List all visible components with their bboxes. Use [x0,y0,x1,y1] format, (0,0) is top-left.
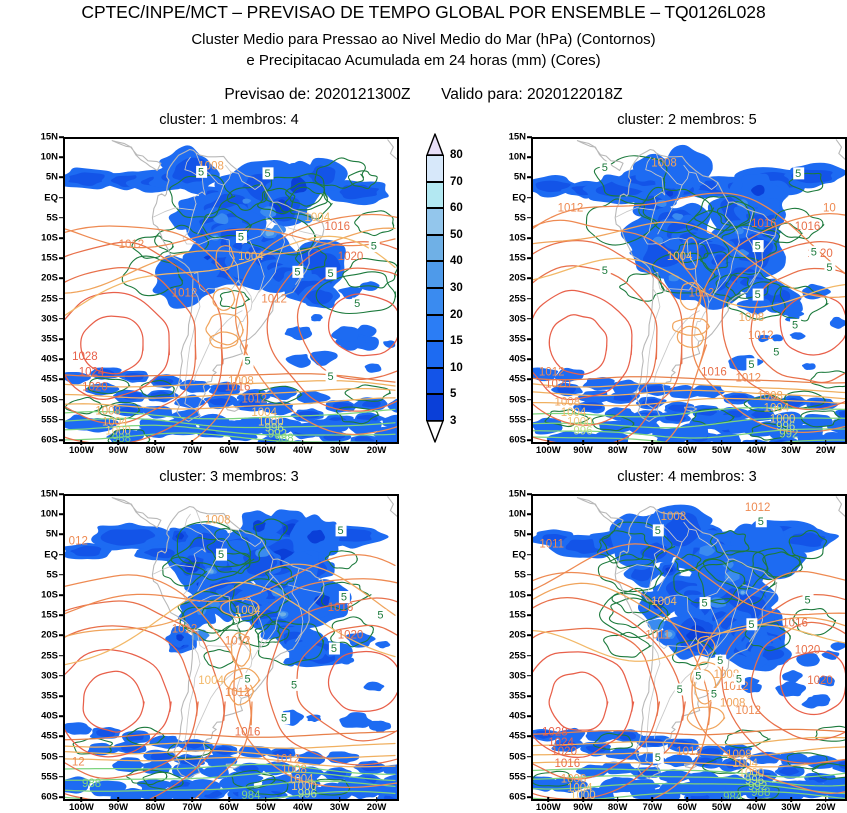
svg-text:1016: 1016 [328,602,354,614]
map-panel-cluster-2[interactable]: 1008101210041012101016102010161008101210… [531,137,847,444]
lat-tick-label: 50S [26,394,58,405]
lon-tick-label: 90W [109,445,129,456]
lat-tick-mark [59,379,64,381]
svg-text:5: 5 [371,241,377,253]
lon-tick-mark [81,797,83,802]
svg-text:1012: 1012 [745,502,771,514]
lat-tick-mark [59,399,64,401]
panel-title-cluster-3: cluster: 3 membros: 3 [63,469,395,485]
lat-tick-mark [527,796,532,798]
lat-tick-mark [527,439,532,441]
svg-text:5: 5 [804,595,810,607]
lat-tick-label: 5N [26,529,58,540]
lat-tick-mark [527,177,532,179]
svg-text:5: 5 [811,247,817,259]
svg-text:1008: 1008 [228,375,254,387]
colorbar-extend-high-arrow [426,133,444,156]
lat-tick-label: 45S [26,731,58,742]
lat-tick-label: 15N [494,132,526,143]
lat-tick-mark [527,695,532,697]
lon-tick-label: 100W [69,802,94,813]
svg-text:988: 988 [751,787,770,799]
lat-tick-mark [527,257,532,259]
valid-for-label: Valido para: 2020122018Z [441,86,623,103]
lon-tick-label: 70W [643,802,663,813]
lon-tick-label: 40W [293,802,313,813]
svg-text:10: 10 [823,203,836,215]
svg-text:1016: 1016 [701,366,727,378]
lon-tick-mark [825,440,827,445]
map-canvas: 1008101210041012101016102010161008101210… [533,139,845,442]
lat-tick-label: EQ [26,549,58,560]
lon-tick-mark [825,797,827,802]
svg-text:1012: 1012 [748,330,774,342]
lat-tick-label: 10N [26,509,58,520]
lat-tick-label: 55S [26,414,58,425]
lat-tick-mark [59,796,64,798]
svg-text:5: 5 [702,598,708,610]
forecast-time-line: Previsao de: 2020121300Z Valido para: 20… [0,86,847,104]
svg-text:1012: 1012 [172,623,198,635]
lat-tick-mark [59,594,64,596]
lat-tick-mark [59,554,64,556]
svg-text:988: 988 [112,433,131,442]
colorbar-band [426,368,444,395]
lat-tick-label: 5S [494,569,526,580]
svg-text:5: 5 [602,265,608,277]
svg-text:12: 12 [72,757,85,769]
colorbar-tick-label: 3 [450,415,456,427]
svg-text:5: 5 [198,166,204,178]
svg-text:1012: 1012 [539,366,565,378]
lat-tick-mark [527,379,532,381]
lon-tick-mark [302,797,304,802]
lat-tick-mark [59,298,64,300]
lon-tick-label: 50W [712,445,732,456]
lon-tick-label: 60W [219,802,239,813]
lon-tick-mark [228,797,230,802]
lat-tick-label: EQ [494,549,526,560]
lat-tick-label: 5S [26,569,58,580]
svg-text:5: 5 [331,643,337,655]
svg-text:984: 984 [723,792,743,799]
lon-tick-mark [652,440,654,445]
lat-tick-mark [527,614,532,616]
lon-tick-mark [154,440,156,445]
colorbar-band [426,341,444,368]
lon-tick-mark [376,440,378,445]
svg-text:5: 5 [245,356,251,368]
svg-text:5: 5 [294,266,300,278]
lon-tick-mark [617,797,619,802]
lat-tick-label: 10S [26,233,58,244]
lat-tick-mark [527,715,532,717]
lat-tick-mark [59,257,64,259]
svg-text:5: 5 [218,549,224,561]
lat-tick-label: 20S [26,273,58,284]
lon-tick-label: 100W [536,802,561,813]
lon-tick-label: 80W [145,445,165,456]
lat-tick-mark [527,318,532,320]
lon-tick-label: 50W [256,802,276,813]
lon-tick-mark [81,440,83,445]
svg-text:5: 5 [341,592,347,604]
lon-tick-mark [652,797,654,802]
colorbar-tick-label: 60 [450,202,463,214]
lat-tick-label: 40S [494,354,526,365]
lat-tick-label: 15S [26,253,58,264]
lat-tick-mark [527,655,532,657]
colorbar-tick-label: 20 [450,309,463,321]
svg-text:5: 5 [337,525,343,537]
svg-text:1012: 1012 [225,687,251,699]
lon-tick-label: 60W [219,445,239,456]
lat-tick-label: 25S [26,293,58,304]
map-panel-cluster-1[interactable]: 1008100410041012101210121016102010281024… [63,137,399,444]
lon-tick-mark [191,440,193,445]
lat-tick-label: 45S [494,374,526,385]
lat-tick-label: 50S [494,751,526,762]
lat-tick-label: 45S [494,731,526,742]
lat-tick-mark [59,736,64,738]
lat-tick-mark [59,217,64,219]
colorbar-tick-label: 30 [450,282,463,294]
lat-tick-mark [527,675,532,677]
lat-tick-mark [527,136,532,138]
colorbar-band [426,261,444,288]
svg-text:1008: 1008 [661,511,687,523]
lon-tick-mark [228,440,230,445]
svg-text:1012: 1012 [676,746,702,758]
svg-text:5: 5 [758,516,764,528]
lon-tick-label: 20W [367,802,387,813]
colorbar-tick-label: 70 [450,176,463,188]
lat-tick-mark [527,554,532,556]
lat-tick-mark [59,655,64,657]
colorbar-tick-label: 80 [450,149,463,161]
lat-tick-label: 10N [26,152,58,163]
page-title: CPTEC/INPE/MCT – PREVISAO DE TEMPO GLOBA… [0,2,847,23]
lon-tick-mark [302,440,304,445]
panel-title-cluster-4: cluster: 4 membros: 3 [531,469,843,485]
lon-tick-mark [686,797,688,802]
lat-tick-mark [527,419,532,421]
lat-tick-mark [527,399,532,401]
lat-tick-mark [527,635,532,637]
lat-tick-label: EQ [26,192,58,203]
lat-tick-label: 30S [26,313,58,324]
svg-text:1012: 1012 [558,203,584,215]
lat-tick-label: 10N [494,152,526,163]
svg-text:1008: 1008 [757,391,783,403]
svg-text:5: 5 [717,655,723,667]
lat-tick-label: 55S [26,771,58,782]
lat-tick-label: 5S [26,212,58,223]
lat-tick-label: 5N [494,529,526,540]
lat-tick-label: 60S [26,435,58,446]
svg-text:5: 5 [677,684,683,696]
colorbar-band [426,315,444,342]
lon-tick-label: 30W [781,802,801,813]
lon-tick-mark [790,797,792,802]
svg-text:5: 5 [264,168,270,180]
svg-text:5: 5 [773,347,779,359]
svg-text:1004: 1004 [667,251,693,263]
svg-text:992: 992 [779,428,798,440]
colorbar-tick-label: 40 [450,255,463,267]
lon-tick-label: 100W [536,445,561,456]
lat-tick-mark [59,776,64,778]
svg-text:5: 5 [354,298,360,310]
svg-text:1012: 1012 [735,705,761,717]
precipitation-colorbar: 35101520304050607080 [426,133,444,443]
lat-tick-label: 10S [494,590,526,601]
lat-tick-mark [59,197,64,199]
lat-tick-label: 15N [494,489,526,500]
svg-text:1016: 1016 [795,221,821,233]
colorbar-tick-label: 10 [450,362,463,374]
lat-tick-label: 55S [494,771,526,782]
svg-text:1028: 1028 [72,351,98,363]
lat-tick-mark [59,756,64,758]
svg-text:5: 5 [695,670,701,682]
svg-text:5: 5 [238,231,244,243]
lon-tick-mark [118,797,120,802]
svg-text:1004: 1004 [651,596,677,608]
lat-tick-label: 20S [26,630,58,641]
lon-tick-mark [339,440,341,445]
lat-tick-label: 30S [494,313,526,324]
panel-title-cluster-2: cluster: 2 membros: 5 [531,112,843,128]
svg-text:5: 5 [328,371,334,383]
lon-tick-label: 60W [677,802,697,813]
lat-tick-mark [527,156,532,158]
svg-text:1016: 1016 [555,758,581,770]
lat-tick-mark [59,715,64,717]
lat-tick-mark [527,594,532,596]
map-panel-cluster-4[interactable]: 1008101210111004101110161020100810121020… [531,494,847,801]
lat-tick-label: 5S [494,212,526,223]
lat-tick-mark [527,756,532,758]
lat-tick-mark [527,574,532,576]
lon-tick-mark [191,797,193,802]
lon-tick-label: 80W [145,802,165,813]
lon-tick-mark [582,440,584,445]
svg-text:5: 5 [755,289,761,301]
map-canvas: 1008101210111004101110161020100810121020… [533,496,845,799]
colorbar-band [426,208,444,235]
lon-tick-mark [582,797,584,802]
lat-tick-mark [527,493,532,495]
svg-text:5: 5 [245,673,251,685]
map-panel-cluster-3[interactable]: 1008012100410121016102010121004101210161… [63,494,399,801]
lon-tick-label: 90W [109,802,129,813]
lat-tick-mark [59,419,64,421]
lat-tick-label: 30S [26,670,58,681]
svg-text:1020: 1020 [551,746,577,758]
panel-title-cluster-1: cluster: 1 membros: 4 [63,112,395,128]
lon-tick-label: 70W [182,445,202,456]
svg-text:5: 5 [736,673,742,685]
lon-tick-label: 40W [747,802,767,813]
lat-tick-mark [527,338,532,340]
lat-tick-label: 10N [494,509,526,520]
lat-tick-label: 60S [494,435,526,446]
colorbar-band [426,394,444,421]
lat-tick-label: 15N [26,132,58,143]
lat-tick-label: 35S [494,691,526,702]
lat-tick-label: 15N [26,489,58,500]
lon-tick-label: 90W [573,445,593,456]
lat-tick-mark [59,136,64,138]
svg-text:5: 5 [655,525,661,537]
svg-text:5: 5 [795,168,801,180]
colorbar-tick-label: 50 [450,229,463,241]
lon-tick-mark [686,440,688,445]
lon-tick-label: 90W [573,802,593,813]
lat-tick-label: 10S [26,590,58,601]
lon-tick-label: 20W [367,445,387,456]
lon-tick-mark [790,440,792,445]
colorbar-band [426,182,444,209]
lat-tick-mark [59,156,64,158]
svg-text:1008: 1008 [739,312,765,324]
svg-text:1011: 1011 [539,539,564,551]
forecast-from-label: Previsao de: 2020121300Z [224,86,410,103]
lat-tick-mark [59,493,64,495]
lon-tick-label: 70W [182,802,202,813]
svg-text:5: 5 [755,241,761,253]
svg-text:1020: 1020 [545,378,571,390]
lat-tick-label: 60S [494,792,526,803]
svg-text:1020: 1020 [795,645,821,657]
svg-text:1012: 1012 [689,288,715,300]
lon-tick-label: 30W [781,445,801,456]
lat-tick-label: 15S [494,253,526,264]
lat-tick-mark [59,177,64,179]
svg-text:1020: 1020 [338,251,364,263]
svg-text:1016: 1016 [235,726,261,738]
lon-tick-label: 30W [330,802,350,813]
svg-text:5: 5 [711,688,717,700]
svg-text:1016: 1016 [782,617,808,629]
svg-text:1020: 1020 [807,675,833,687]
lat-tick-mark [527,217,532,219]
lon-tick-label: 40W [747,445,767,456]
lon-tick-mark [548,440,550,445]
lat-tick-label: 40S [26,354,58,365]
colorbar-extend-low-arrow [426,420,444,443]
lon-tick-mark [548,797,550,802]
svg-text:1016: 1016 [324,221,350,233]
lat-tick-mark [59,695,64,697]
svg-text:5: 5 [748,619,754,631]
lat-tick-label: 20S [494,273,526,284]
lat-tick-label: 35S [494,334,526,345]
svg-text:5: 5 [748,359,754,371]
lon-tick-label: 80W [608,445,628,456]
lon-tick-label: 80W [608,802,628,813]
map-canvas: 1008100410041012101210121016102010281024… [65,139,397,442]
svg-text:988: 988 [82,778,101,790]
svg-text:5: 5 [377,610,383,622]
lat-tick-label: 50S [494,394,526,405]
subtitle-line-1: Cluster Medio para Pressao ao Nivel Medi… [0,31,847,48]
lon-tick-mark [339,797,341,802]
lat-tick-mark [59,635,64,637]
svg-text:5: 5 [291,679,297,691]
lat-tick-label: 55S [494,414,526,425]
lat-tick-mark [59,358,64,360]
map-canvas: 1008012100410121016102010121004101210161… [65,496,397,799]
lat-tick-mark [59,614,64,616]
svg-text:5: 5 [281,713,287,725]
svg-text:1011: 1011 [645,629,670,641]
lon-tick-label: 70W [643,445,663,456]
colorbar-band [426,155,444,182]
lon-tick-label: 50W [712,802,732,813]
lon-tick-mark [617,440,619,445]
lat-tick-label: 25S [494,650,526,661]
svg-text:996: 996 [573,425,592,437]
lat-tick-label: 35S [26,691,58,702]
svg-text:1012: 1012 [225,635,251,647]
lon-tick-mark [265,440,267,445]
lon-tick-mark [721,440,723,445]
lat-tick-mark [59,534,64,536]
colorbar-band [426,288,444,315]
lon-tick-label: 100W [69,445,94,456]
svg-text:1016: 1016 [751,218,777,230]
lat-tick-mark [527,736,532,738]
svg-text:1020: 1020 [338,629,364,641]
lat-tick-mark [527,278,532,280]
lon-tick-label: 20W [816,445,836,456]
lon-tick-mark [756,797,758,802]
lon-tick-mark [154,797,156,802]
svg-text:1012: 1012 [172,288,198,300]
colorbar-tick-label: 5 [450,388,456,400]
lat-tick-label: 40S [494,711,526,722]
lat-tick-mark [59,513,64,515]
lon-tick-label: 60W [677,445,697,456]
svg-text:1004: 1004 [198,675,224,687]
svg-text:1012: 1012 [735,372,761,384]
svg-text:988: 988 [275,433,294,442]
svg-text:1024: 1024 [79,366,105,378]
lon-tick-mark [118,440,120,445]
svg-text:5: 5 [792,319,798,331]
lat-tick-label: 15S [494,610,526,621]
svg-text:1008: 1008 [651,157,677,169]
svg-text:5: 5 [602,162,608,174]
lat-tick-label: 50S [26,751,58,762]
svg-text:5: 5 [655,752,661,764]
subtitle-line-2: e Precipitacao Acumulada em 24 horas (mm… [0,52,847,69]
lon-tick-label: 30W [330,445,350,456]
lat-tick-label: 30S [494,670,526,681]
lat-tick-mark [527,513,532,515]
lat-tick-mark [527,197,532,199]
svg-text:984: 984 [241,790,261,799]
svg-text:1012: 1012 [241,394,267,406]
lon-tick-label: 20W [816,802,836,813]
svg-text:1004: 1004 [238,251,264,263]
lat-tick-mark [59,237,64,239]
colorbar-tick-label: 15 [450,335,463,347]
lat-tick-label: 45S [26,374,58,385]
lon-tick-label: 40W [293,445,313,456]
